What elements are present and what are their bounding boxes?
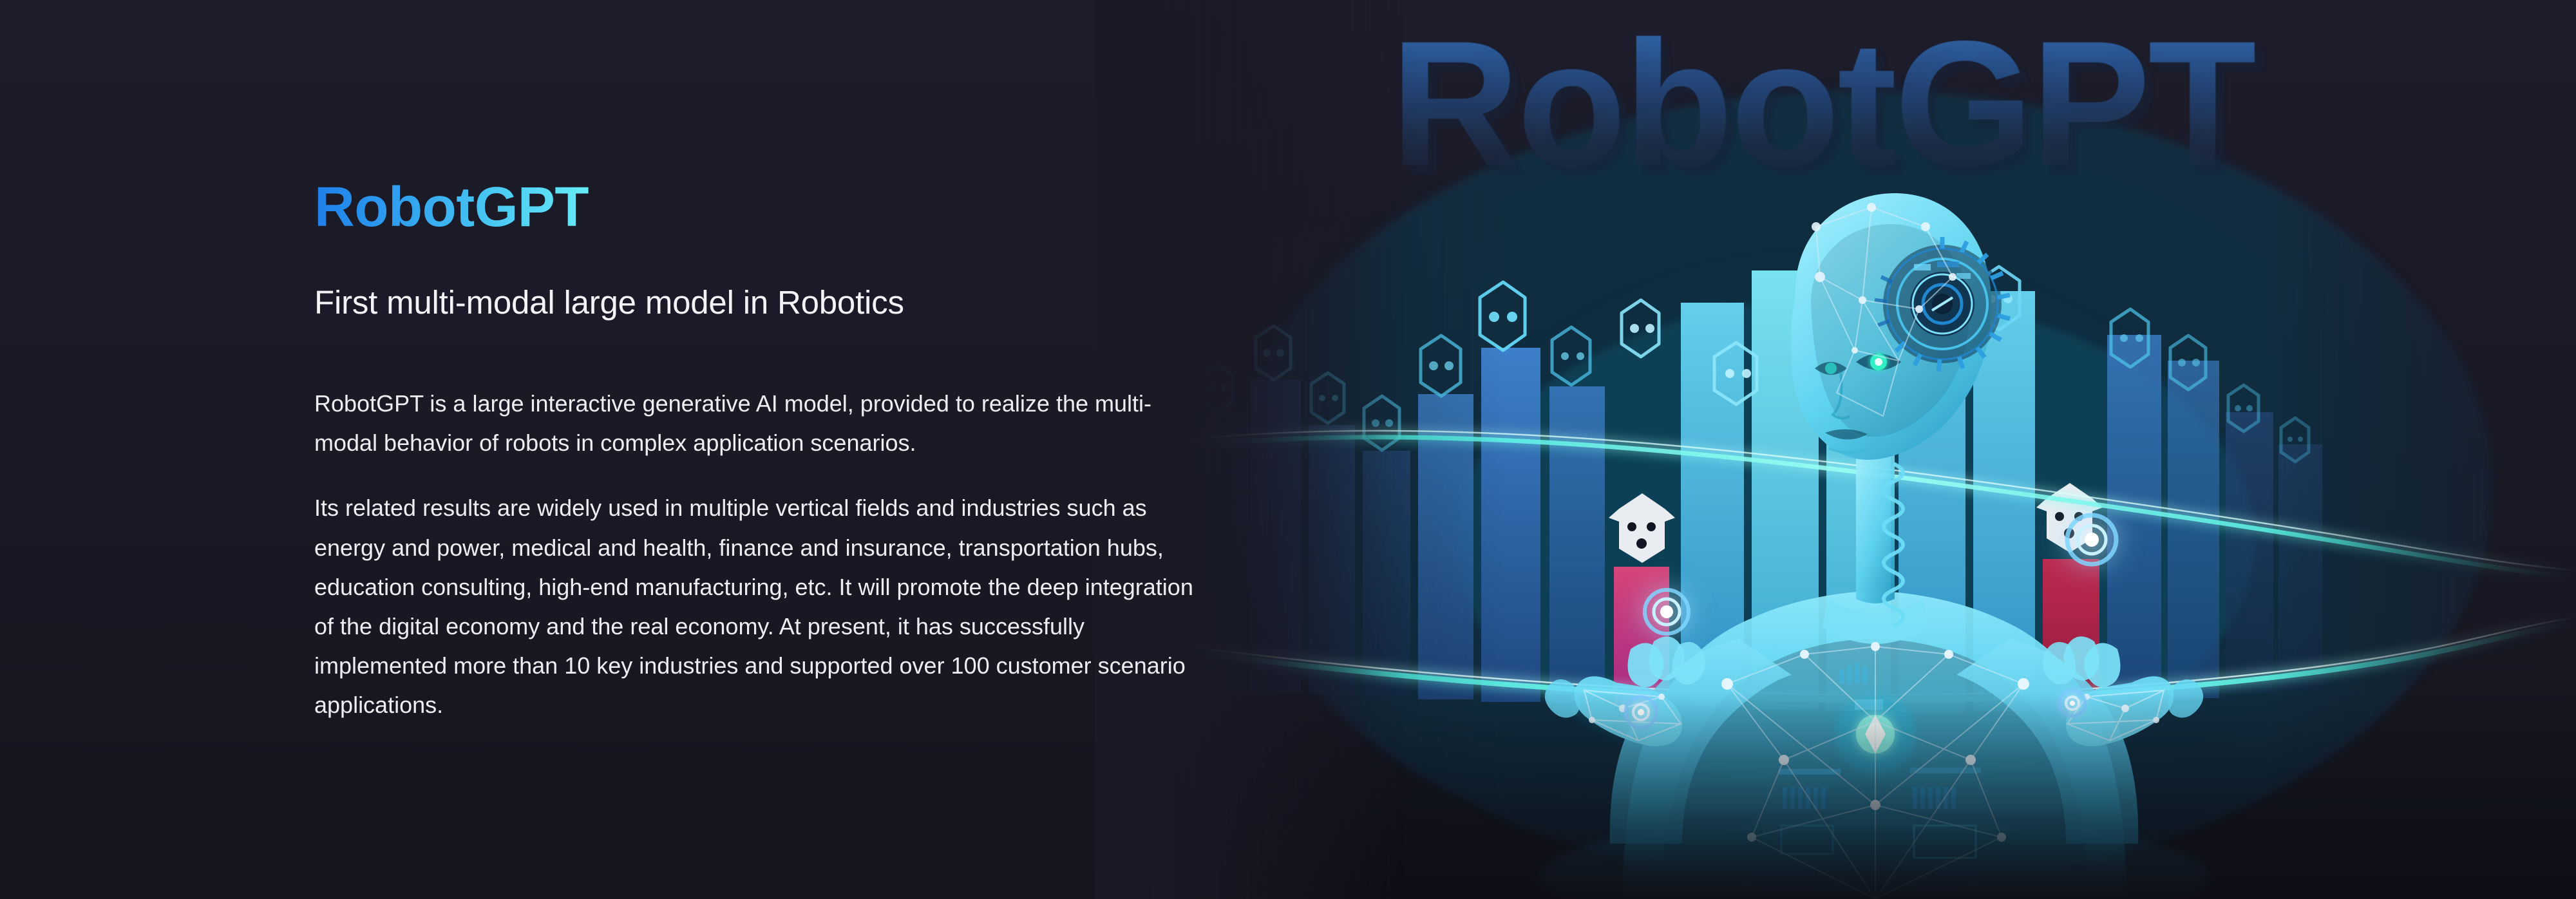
chart-bar xyxy=(1309,425,1355,694)
description-paragraph: RobotGPT is a large interactive generati… xyxy=(314,384,1211,462)
robotgpt-hero-banner: RobotGPT RobotGPT RobotGPT First multi-m… xyxy=(0,0,2576,899)
chart-bar xyxy=(1251,380,1301,693)
chart-bar xyxy=(2107,335,2161,701)
chart-bar xyxy=(1363,451,1410,697)
robot-eye-right-pupil xyxy=(1875,358,1882,366)
robot-neck xyxy=(1856,448,1895,603)
content-column: RobotGPT First multi-modal large model i… xyxy=(314,0,1216,899)
description-paragraph: Its related results are widely used in m… xyxy=(314,488,1211,724)
chart-bar xyxy=(1549,386,1605,703)
robot-eye-left xyxy=(1825,363,1837,374)
page-subtitle: First multi-modal large model in Robotic… xyxy=(314,283,904,321)
hero-wordmark-shadow: RobotGPT xyxy=(1398,22,2262,201)
chart-bar xyxy=(1481,348,1540,702)
description-block: RobotGPT is a large interactive generati… xyxy=(314,384,1211,725)
chart-bar xyxy=(2168,361,2219,698)
page-title: RobotGPT xyxy=(314,179,589,235)
chart-bar xyxy=(2226,412,2273,693)
chart-bar xyxy=(2278,444,2322,690)
